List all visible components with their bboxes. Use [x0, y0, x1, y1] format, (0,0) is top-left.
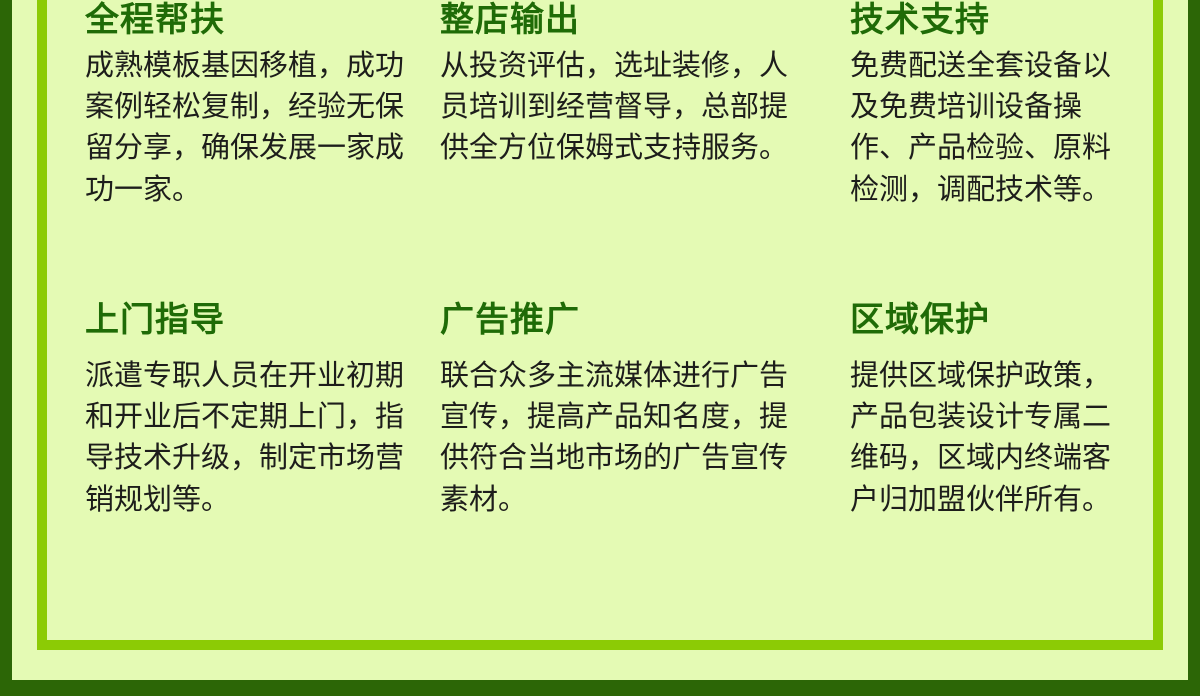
- card-title: 广告推广: [440, 300, 816, 340]
- card-title: 上门指导: [85, 300, 406, 340]
- feature-card-zheng-dian-shu-chu: 整店输出 从投资评估，选址装修，人员培训到经营督导，总部提供全方位保姆式支持服务…: [440, 0, 850, 300]
- feature-card-shang-men-zhi-dao: 上门指导 派遣专职人员在开业初期和开业后不定期上门，指导技术升级，制定市场营销规…: [85, 300, 440, 590]
- feature-card-quan-cheng-bang-fu: 全程帮扶 成熟模板基因移植，成功案例轻松复制，经验无保留分享，确保发展一家成功一…: [85, 0, 440, 300]
- card-title: 整店输出: [440, 0, 816, 40]
- feature-card-grid: 全程帮扶 成熟模板基因移植，成功案例轻松复制，经验无保留分享，确保发展一家成功一…: [85, 0, 1151, 590]
- card-body: 免费配送全套设备以及免费培训设备操作、产品检验、原料检测，调配技术等。: [850, 46, 1117, 211]
- card-title: 全程帮扶: [85, 0, 406, 40]
- card-body: 联合众多主流媒体进行广告宣传，提高产品知名度，提供符合当地市场的广告宣传素材。: [440, 356, 816, 521]
- feature-card-ji-shu-zhi-chi: 技术支持 免费配送全套设备以及免费培训设备操作、产品检验、原料检测，调配技术等。: [850, 0, 1151, 300]
- card-title: 技术支持: [850, 0, 1117, 40]
- feature-card-qu-yu-bao-hu: 区域保护 提供区域保护政策，产品包装设计专属二维码，区域内终端客户归加盟伙伴所有…: [850, 300, 1151, 590]
- card-body: 从投资评估，选址装修，人员培训到经营督导，总部提供全方位保姆式支持服务。: [440, 46, 816, 170]
- poster-root: 全程帮扶 成熟模板基因移植，成功案例轻松复制，经验无保留分享，确保发展一家成功一…: [0, 0, 1200, 696]
- card-body: 成熟模板基因移植，成功案例轻松复制，经验无保留分享，确保发展一家成功一家。: [85, 46, 406, 211]
- card-title: 区域保护: [850, 300, 1117, 340]
- card-body: 派遣专职人员在开业初期和开业后不定期上门，指导技术升级，制定市场营销规划等。: [85, 356, 406, 521]
- card-body: 提供区域保护政策，产品包装设计专属二维码，区域内终端客户归加盟伙伴所有。: [850, 356, 1117, 521]
- feature-card-guang-gao-tui-guang: 广告推广 联合众多主流媒体进行广告宣传，提高产品知名度，提供符合当地市场的广告宣…: [440, 300, 850, 590]
- poster-panel: 全程帮扶 成熟模板基因移植，成功案例轻松复制，经验无保留分享，确保发展一家成功一…: [12, 0, 1188, 680]
